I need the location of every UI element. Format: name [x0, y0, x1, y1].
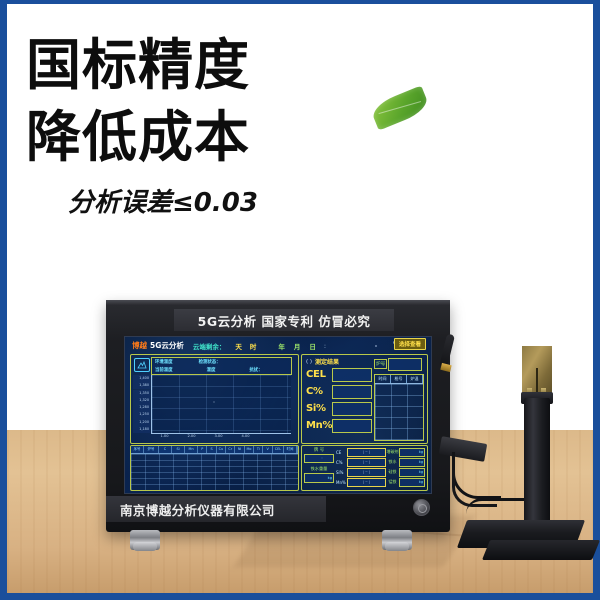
- cloud-remaining-label: 云端剩余：: [193, 341, 226, 351]
- column-header: Mo: [245, 446, 254, 453]
- cloud-remaining-hours-unit: 时: [250, 341, 257, 351]
- measurement-results-panel: ( ) 测定结果 CEL C% Si%: [301, 354, 428, 444]
- calc-output-unit: kg: [419, 459, 423, 466]
- column-header: Mn: [185, 446, 198, 453]
- select-view-button[interactable]: 选择查看: [394, 338, 426, 350]
- column-header: 炉号: [144, 446, 159, 453]
- column-header: Ti: [254, 446, 263, 453]
- result-value-box[interactable]: [332, 419, 372, 433]
- date-day-label: 日: [309, 341, 316, 351]
- log-column-header: 时间: [375, 375, 391, 383]
- results-title-row: ( ) 测定结果: [306, 357, 339, 366]
- calc-element-label: CE: [336, 450, 347, 455]
- furnace-number-field[interactable]: 炉号: [374, 357, 422, 371]
- calc-element-label: C%: [336, 460, 347, 465]
- leaf-icon: [369, 85, 431, 130]
- calc-range-input[interactable]: | ~ |: [347, 448, 386, 457]
- result-label: Si%: [306, 403, 331, 414]
- calc-material-name: 铁水: [386, 459, 399, 465]
- chart-y-axis: 1,400 1,380 1,350 1,320 1,280 1,250 1,20…: [133, 375, 150, 433]
- result-label: Mn%: [306, 420, 331, 431]
- calc-left-column: 牌 号 铁水重量 kg: [304, 447, 334, 483]
- weight-unit: kg: [328, 474, 332, 482]
- results-title: 测定结果: [315, 357, 339, 366]
- calc-output-box[interactable]: kg: [399, 468, 425, 477]
- result-row: Si%: [306, 400, 372, 417]
- device-screen[interactable]: 博越 5G云分析 云端剩余： 天 时 年 月 日 : 选择查看: [124, 336, 432, 494]
- frame-border-left: [0, 0, 7, 600]
- cloud-remaining-days-unit: 天: [235, 341, 242, 351]
- screen-status-bar: 博越 5G云分析 云端剩余： 天 时 年 月 日 :: [128, 339, 428, 352]
- history-data-table[interactable]: 序号 炉号 C Si Mn P S Cu Cr Ni Mo Ti V CEL 时…: [130, 445, 299, 491]
- calc-output-unit: kg: [419, 479, 423, 486]
- x-tick: 3.00: [205, 434, 232, 438]
- device-top-edge: [106, 300, 450, 305]
- resist-label: 抗扰：: [249, 367, 262, 373]
- x-tick: 1.00: [151, 434, 178, 438]
- humidity-label: 湿度: [207, 367, 216, 373]
- calc-output-unit: kg: [419, 449, 423, 456]
- column-header: P: [198, 446, 207, 453]
- column-header: CEL: [273, 446, 284, 453]
- result-row: CEL: [306, 366, 372, 383]
- result-label: C%: [306, 386, 331, 397]
- x-tick: 2.00: [178, 434, 205, 438]
- calc-range-input[interactable]: | ~ |: [347, 458, 386, 467]
- y-tick: 1,200: [133, 419, 150, 426]
- product-banner: 国标精度 降低成本 分析误差≤0.03 5G云分析 国家专利 仿冒必究 博越 5…: [0, 0, 600, 600]
- calc-material-name: 硅铁: [386, 469, 399, 475]
- calc-range-input[interactable]: | ~ |: [347, 468, 386, 477]
- column-header: Cu: [217, 446, 226, 453]
- date-year-label: 年: [278, 341, 285, 351]
- headline-subline: 分析误差≤0.03: [68, 182, 258, 219]
- calc-row: C% | ~ | 铁水 kg: [336, 457, 425, 467]
- table-header-row: 序号 炉号 C Si Mn P S Cu Cr Ni Mo Ti V CEL 时…: [131, 446, 298, 454]
- column-header: 时间: [284, 446, 297, 453]
- cooling-curve-plot: [151, 375, 291, 434]
- result-label: CEL: [306, 369, 331, 380]
- column-header: S: [207, 446, 216, 453]
- log-header-row: 时间 枪号 炉温: [375, 375, 423, 384]
- result-row: Mn%: [306, 417, 372, 434]
- calc-row: CE | ~ | 增碳剂 kg: [336, 447, 425, 457]
- grade-input[interactable]: [304, 454, 334, 463]
- log-body: [375, 384, 423, 440]
- log-column-header: 炉温: [407, 375, 423, 383]
- log-column-header: 枪号: [391, 375, 407, 383]
- y-tick: 1,350: [133, 390, 150, 397]
- calc-output-unit: kg: [419, 469, 423, 476]
- results-paren: ( ): [306, 359, 312, 365]
- grade-label: 牌 号: [304, 447, 334, 453]
- analyzer-device: 5G云分析 国家专利 仿冒必究 博越 5G云分析 云端剩余： 天 时 年 月 日: [106, 300, 450, 532]
- y-tick: 1,380: [133, 382, 150, 389]
- column-header: 序号: [131, 446, 144, 453]
- furnace-number-label: 炉号: [374, 359, 387, 369]
- y-tick: 1,400: [133, 375, 150, 382]
- iron-weight-label: 铁水重量: [304, 466, 334, 472]
- frame-border-top: [0, 0, 600, 4]
- result-row: C%: [306, 383, 372, 400]
- temperature-chart-panel: 环境温度 检测状态： 当前温度 湿度 抗扰： 1,400 1,380 1,350…: [130, 354, 299, 444]
- column-header: Si: [172, 446, 185, 453]
- calc-row: Mn% | ~ | 锰铁 kg: [336, 477, 425, 487]
- results-rows: CEL C% Si% Mn%: [306, 366, 372, 434]
- device-footer-plate: 南京博越分析仪器有限公司: [106, 496, 326, 522]
- column-header: 操作: [297, 446, 298, 453]
- frame-border-bottom: [0, 593, 600, 600]
- column-header: Cr: [226, 446, 235, 453]
- result-value-box[interactable]: [332, 368, 372, 382]
- company-name: 南京博越分析仪器有限公司: [120, 500, 275, 519]
- time-display: :: [324, 342, 326, 350]
- column-header: Ni: [235, 446, 244, 453]
- brand-name-cn: 博越: [132, 340, 147, 351]
- furnace-number-input[interactable]: [388, 358, 422, 371]
- headline-line-2: 降低成本: [26, 106, 258, 168]
- date-month-label: 月: [294, 341, 301, 351]
- column-header: V: [263, 446, 272, 453]
- calc-material-name: 锰铁: [386, 479, 399, 485]
- calc-element-label: Mn%: [336, 480, 347, 485]
- calc-output-box[interactable]: kg: [399, 478, 425, 487]
- measurement-log-table[interactable]: 时间 枪号 炉温: [374, 374, 424, 441]
- charge-calculation-panel: 牌 号 铁水重量 kg CE | ~ | 增碳剂 kg: [301, 445, 428, 491]
- calc-range-input[interactable]: | ~ |: [347, 478, 386, 487]
- table-body: [131, 454, 298, 490]
- calc-material-name: 增碳剂: [386, 449, 399, 455]
- chart-x-axis: 1.00 2.00 3.00 4.00: [151, 434, 290, 438]
- date-display: 年 月 日: [278, 341, 316, 351]
- column-header: C: [159, 446, 172, 453]
- detect-state-label: 检测状态：: [199, 359, 221, 365]
- result-value-box[interactable]: [332, 402, 372, 416]
- y-tick: 1,320: [133, 397, 150, 404]
- chart-status-header: 环境温度 检测状态： 当前温度 湿度 抗扰：: [151, 357, 292, 375]
- device-banner-text: 5G云分析 国家专利 仿冒必究: [198, 311, 371, 330]
- probe-stand-base-lower: [482, 540, 600, 560]
- y-tick: 1,250: [133, 411, 150, 418]
- x-tick: 4.00: [232, 434, 259, 438]
- result-value-box[interactable]: [332, 385, 372, 399]
- headline-line-1: 国标精度: [26, 34, 258, 96]
- current-temp-label: 当前温度: [155, 367, 173, 373]
- probe-stand-column: [524, 398, 550, 530]
- brass-probe-tip: [522, 346, 552, 394]
- y-tick: 1,180: [133, 426, 150, 433]
- device-foot: [130, 530, 160, 550]
- calc-element-label: Si%: [336, 470, 347, 475]
- headline-block: 国标精度 降低成本 分析误差≤0.03: [26, 34, 258, 219]
- brand-product-label: 5G云分析: [150, 340, 184, 351]
- mountain-logo-icon: [134, 358, 150, 372]
- device-foot: [382, 530, 412, 550]
- y-tick: 1,280: [133, 404, 150, 411]
- calc-output-box[interactable]: kg: [399, 458, 425, 467]
- calc-rows: CE | ~ | 增碳剂 kg C% | ~ | 铁水 kg Si%: [336, 447, 425, 487]
- power-button-icon[interactable]: [413, 499, 430, 516]
- env-temp-label: 环境温度: [155, 359, 173, 365]
- calc-output-box[interactable]: kg: [399, 448, 425, 457]
- iron-weight-input[interactable]: kg: [304, 473, 334, 483]
- calc-row: Si% | ~ | 硅铁 kg: [336, 467, 425, 477]
- device-banner: 5G云分析 国家专利 仿冒必究: [174, 309, 394, 331]
- frame-border-right: [593, 0, 600, 600]
